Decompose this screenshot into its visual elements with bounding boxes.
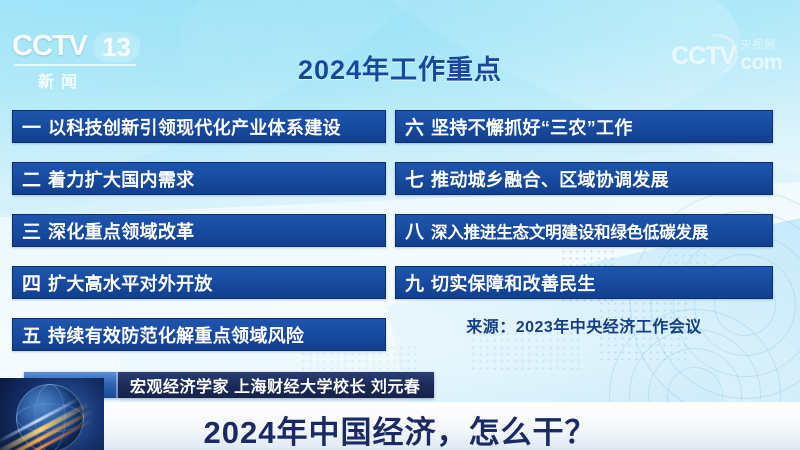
list-item: 五 持续有效防范化解重点领域风险 bbox=[12, 318, 386, 351]
list-item-label: 深化重点领域改革 bbox=[48, 218, 194, 244]
guest-name-label: 宏观经济学家 上海财经大学校长 刘元春 bbox=[118, 372, 434, 398]
list-item: 七 推动城乡融合、区域协调发展 bbox=[395, 162, 773, 195]
list-item: 三 深化重点领域改革 bbox=[12, 214, 386, 247]
globe-icon bbox=[0, 378, 104, 450]
list-item: 八 深入推进生态文明建设和绿色低碳发展 bbox=[395, 214, 773, 247]
list-item: 六 坚持不懈抓好“三农”工作 bbox=[395, 110, 773, 143]
source-citation: 来源：2023年中央经济工作会议 bbox=[395, 313, 773, 337]
list-item-number: 四 bbox=[13, 269, 48, 296]
list-item: 四 扩大高水平对外开放 bbox=[12, 266, 386, 299]
list-item-number: 一 bbox=[13, 113, 48, 140]
list-item-label: 扩大高水平对外开放 bbox=[48, 270, 213, 296]
list-item-number: 九 bbox=[396, 269, 431, 296]
list-item: 九 切实保障和改善民生 bbox=[395, 266, 773, 299]
list-item-label: 深入推进生态文明建设和绿色低碳发展 bbox=[431, 219, 708, 243]
list-item-number: 五 bbox=[13, 321, 48, 348]
list-item-label: 推动城乡融合、区域协调发展 bbox=[431, 166, 669, 192]
headline-text: 2024年中国经济，怎么干？ bbox=[0, 407, 800, 450]
left-column: 一 以科技创新引领现代化产业体系建设 二 着力扩大国内需求 三 深化重点领域改革… bbox=[12, 110, 386, 370]
list-item-number: 七 bbox=[396, 165, 431, 192]
list-item-label: 坚持不懈抓好“三农”工作 bbox=[431, 114, 633, 140]
broadcast-screen: CCTV 13 新闻 CCTV 央视网 com 2024年工作重点 一 以科技创… bbox=[0, 0, 800, 450]
list-item-label: 着力扩大国内需求 bbox=[48, 166, 194, 192]
list-item-number: 二 bbox=[13, 165, 48, 192]
list-item-label: 以科技创新引领现代化产业体系建设 bbox=[48, 114, 341, 140]
list-item-label: 持续有效防范化解重点领域风险 bbox=[48, 322, 304, 348]
list-item-number: 三 bbox=[13, 217, 48, 244]
list-item: 一 以科技创新引领现代化产业体系建设 bbox=[12, 110, 386, 143]
page-title: 2024年工作重点 bbox=[0, 48, 800, 87]
list-item-number: 八 bbox=[396, 217, 431, 244]
right-column: 六 坚持不懈抓好“三农”工作 七 推动城乡融合、区域协调发展 八 深入推进生态文… bbox=[395, 110, 773, 318]
headline-bar: 2024年中国经济，怎么干？ bbox=[0, 402, 800, 450]
list-item-label: 切实保障和改善民生 bbox=[431, 270, 596, 296]
list-item: 二 着力扩大国内需求 bbox=[12, 162, 386, 195]
lower-third: 视频连线 宏观经济学家 上海财经大学校长 刘元春 2024年中国经济，怎么干？ bbox=[0, 372, 800, 450]
list-item-number: 六 bbox=[396, 113, 431, 140]
